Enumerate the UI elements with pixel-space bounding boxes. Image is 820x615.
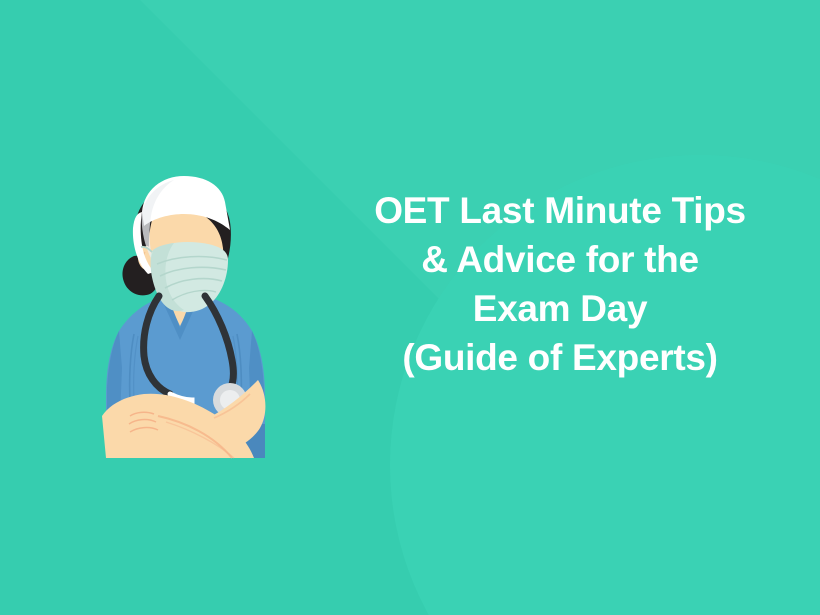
promo-banner: OET Last Minute Tips & Advice for the Ex… bbox=[0, 0, 820, 615]
title-line-4: (Guide of Experts) bbox=[330, 333, 790, 382]
title-line-2: & Advice for the bbox=[330, 235, 790, 284]
nurse-with-face-mask-illustration bbox=[62, 168, 292, 460]
title-line-1: OET Last Minute Tips bbox=[330, 186, 790, 235]
banner-title: OET Last Minute Tips & Advice for the Ex… bbox=[330, 186, 790, 382]
title-line-3: Exam Day bbox=[330, 284, 790, 333]
